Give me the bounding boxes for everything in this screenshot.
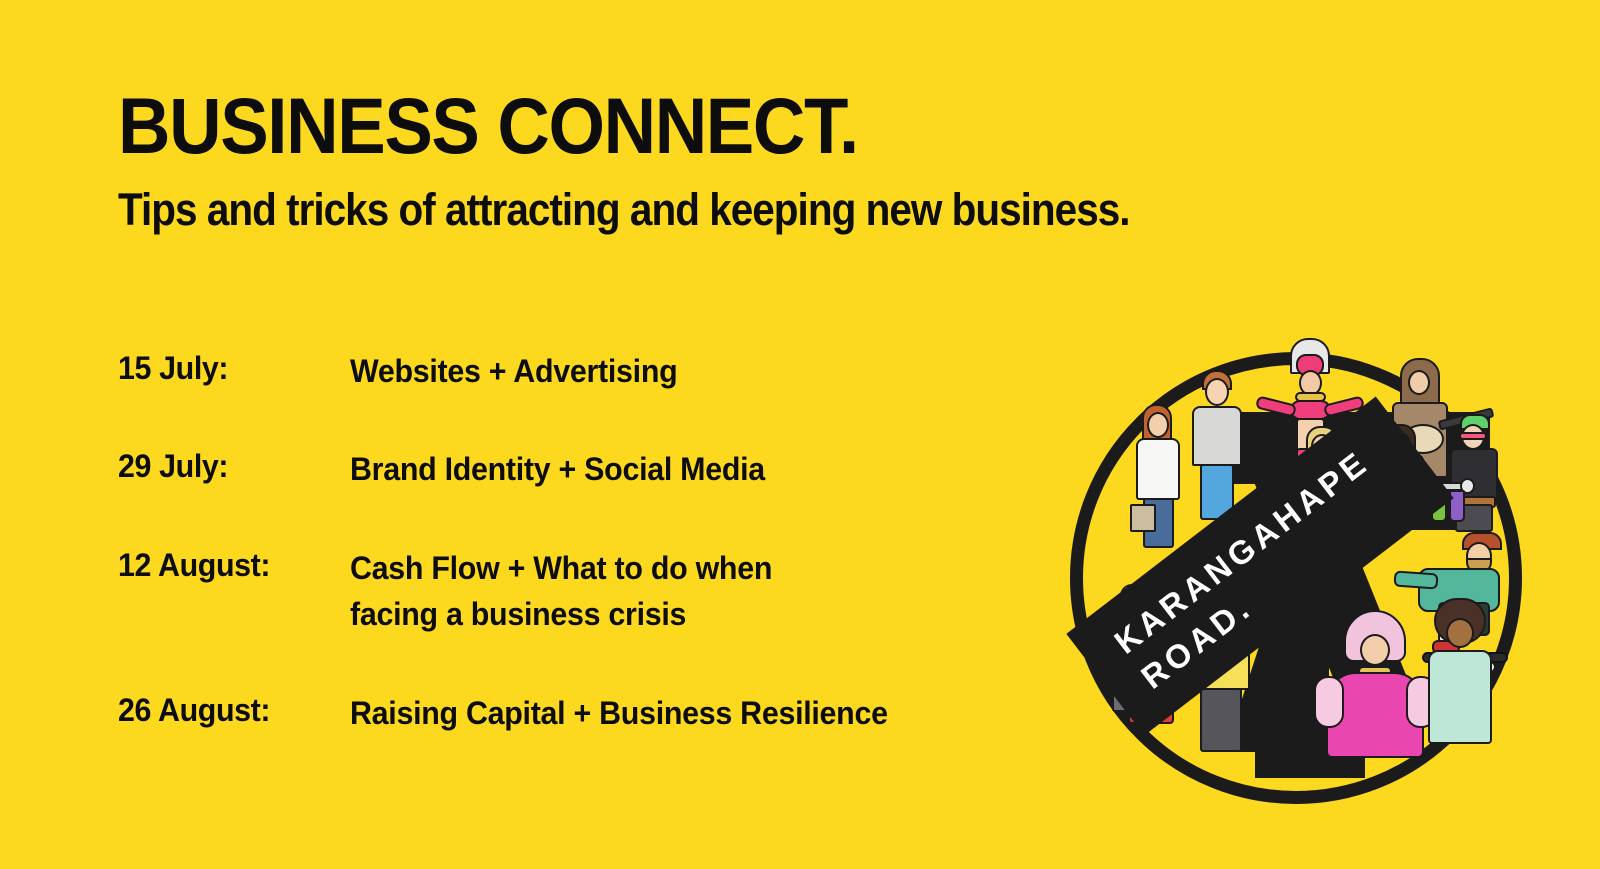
schedule-date: 12 August: [118, 545, 338, 586]
schedule-row: 15 July: Websites + Advertising [118, 348, 1048, 394]
schedule-list: 15 July: Websites + Advertising 29 July:… [118, 348, 1048, 736]
head [1205, 378, 1229, 406]
schedule-date: 29 July: [118, 446, 338, 487]
schedule-topic: Raising Capital + Business Resilience [350, 690, 1013, 736]
jeans [1200, 688, 1242, 752]
schedule-date: 15 July: [118, 348, 338, 389]
schedule-topic-line: Brand Identity + Social Media [350, 451, 765, 487]
schedule-row: 29 July: Brand Identity + Social Media [118, 446, 1048, 492]
schedule-topic-line: Cash Flow + What to do when [350, 550, 772, 586]
schedule-date: 26 August: [118, 690, 338, 731]
schedule-topic: Websites + Advertising [350, 348, 1013, 394]
torso [1136, 438, 1180, 500]
handbag [1130, 504, 1156, 532]
schedule-row: 26 August: Raising Capital + Business Re… [118, 690, 1048, 736]
schedule-topic-line: facing a business crisis [350, 591, 1013, 637]
head [1408, 370, 1430, 395]
schedule-topic-line: Websites + Advertising [350, 353, 677, 389]
sunglasses [1459, 432, 1487, 440]
schedule-topic-line: Raising Capital + Business Resilience [350, 695, 888, 731]
torso [1192, 406, 1242, 466]
fur-stole-left [1314, 676, 1344, 728]
karangahape-road-logo: KARANGAHAPE ROAD. [1070, 352, 1522, 804]
head [1446, 618, 1474, 648]
schedule-topic: Cash Flow + What to do when facing a bus… [350, 545, 1013, 638]
schedule-row: 12 August: Cash Flow + What to do when f… [118, 545, 1048, 638]
page-title: BUSINESS CONNECT. [118, 88, 858, 163]
head [1360, 634, 1390, 666]
head [1147, 412, 1169, 438]
schedule-topic: Brand Identity + Social Media [350, 446, 1013, 492]
arm-out [1393, 570, 1438, 589]
figure-woman-afro-mint-dress [1420, 598, 1500, 750]
arm-left [1255, 395, 1297, 417]
poster-canvas: BUSINESS CONNECT. Tips and tricks of att… [0, 0, 1600, 869]
page-subtitle: Tips and tricks of attracting and keepin… [118, 186, 1130, 233]
figure-redhead-shopper [1128, 404, 1190, 554]
mint-dress [1428, 650, 1492, 744]
